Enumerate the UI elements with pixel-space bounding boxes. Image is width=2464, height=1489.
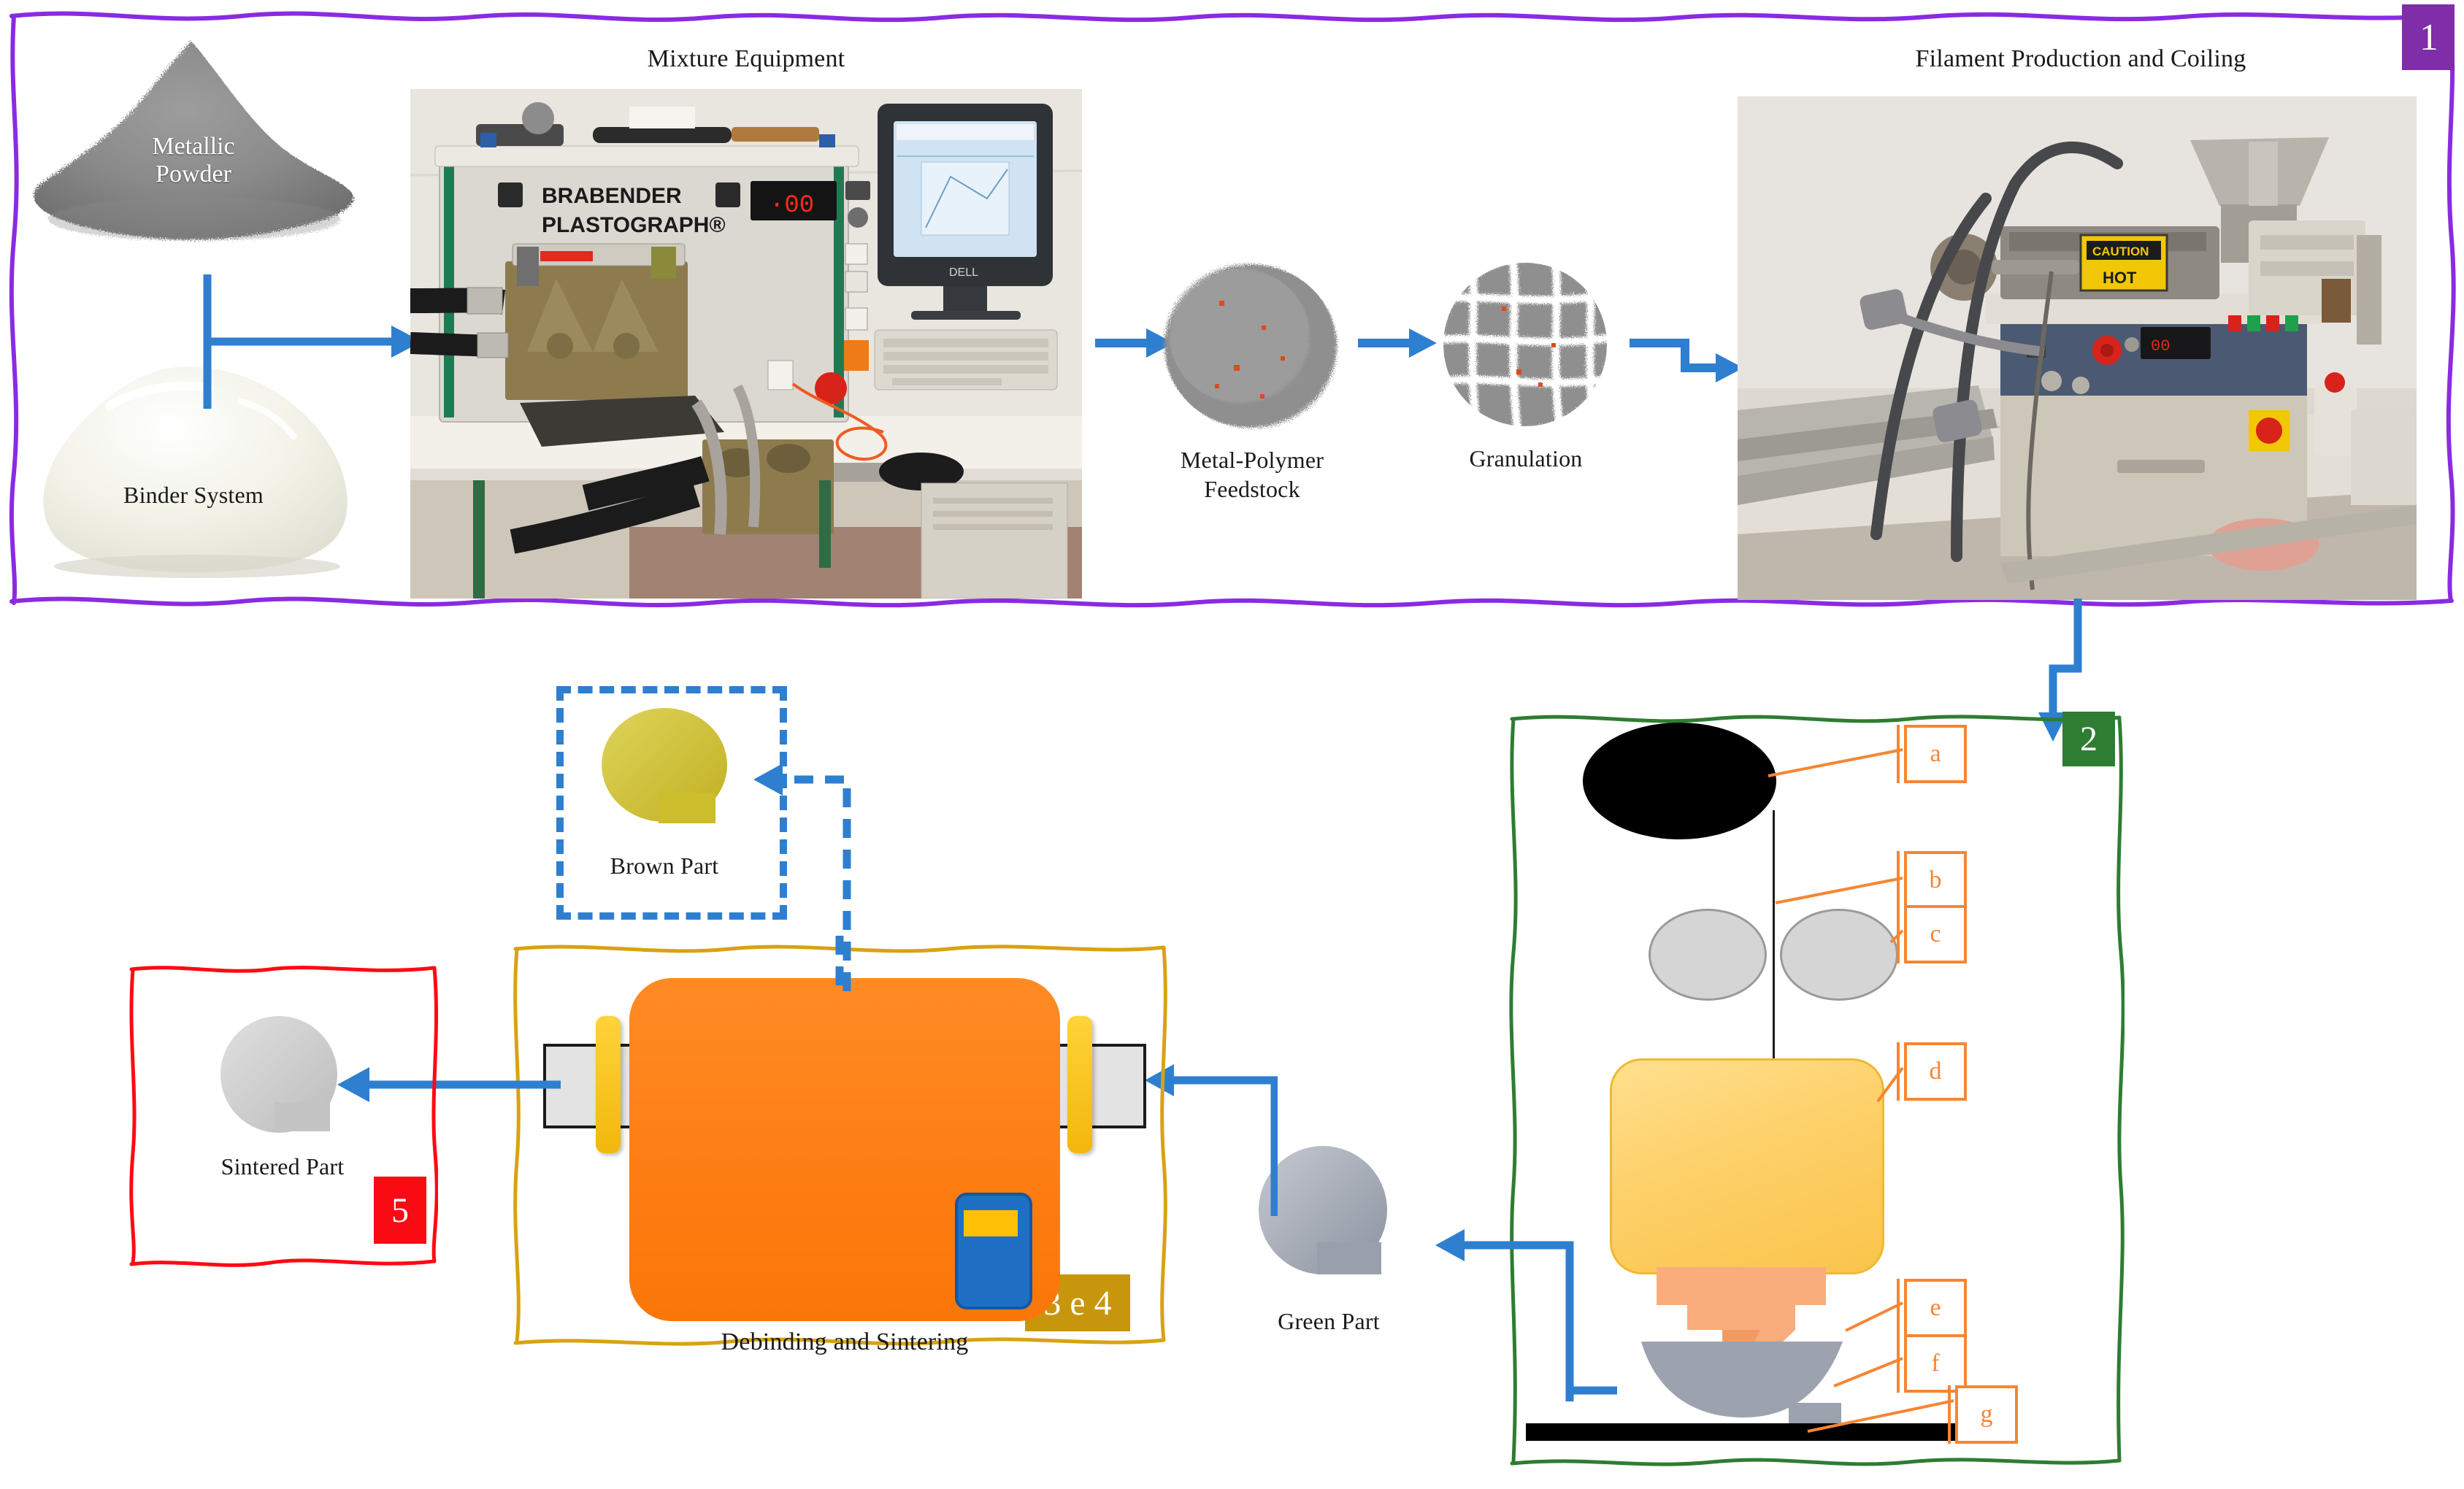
granulation-label: Granulation: [1409, 445, 1643, 472]
green-part-label: Green Part: [1219, 1308, 1438, 1335]
arrow-printer-to-green-part-lower: [1566, 1376, 1617, 1405]
svg-text:PLASTOGRAPH®: PLASTOGRAPH®: [542, 213, 726, 237]
dashed-line-furnace-top: [832, 936, 847, 987]
furnace-right-port: [1045, 1044, 1146, 1128]
furnace-right-door: [1067, 1016, 1092, 1153]
callout-box-e: e: [1904, 1279, 1967, 1337]
svg-text:BRABENDER: BRABENDER: [542, 184, 682, 208]
mixture-equipment-title: Mixture Equipment: [556, 45, 936, 73]
callout-box-g: g: [1955, 1385, 2018, 1444]
feedstock-label-line1: Metal-Polymer: [1124, 445, 1380, 474]
stage-1-badge: 1: [2402, 4, 2455, 70]
stage-5-badge-number: 5: [391, 1190, 409, 1231]
metallic-powder-label-line2: Powder: [22, 161, 365, 188]
stage-5-badge: 5: [374, 1177, 426, 1244]
granulation-illustration: [1435, 255, 1617, 438]
brown-part-label: Brown Part: [556, 853, 772, 880]
brown-part-illustration: [591, 707, 745, 845]
feedstock-label-line2: Feedstock: [1124, 474, 1380, 504]
svg-text:·00: ·00: [769, 192, 814, 220]
mixture-equipment-photo: BRABENDER PLASTOGRAPH® ·00: [410, 89, 1082, 599]
arrow-granulation-to-filament: [1628, 314, 1745, 394]
arrow-feedstock-to-granulation: [1358, 321, 1438, 365]
svg-text:HOT: HOT: [2103, 269, 2137, 287]
callout-box-c: c: [1904, 905, 1967, 963]
furnace-left-door: [596, 1016, 621, 1153]
furnace-panel-display: [964, 1210, 1018, 1236]
debinding-sintering-label: Debinding and Sintering: [629, 1328, 1060, 1356]
metallic-powder-label-line1: Metallic: [22, 133, 365, 161]
sintered-part-label: Sintered Part: [155, 1153, 410, 1180]
arrow-printer-to-green-part: [1394, 1073, 1577, 1401]
svg-text:00: 00: [2151, 337, 2170, 355]
binder-system-label: Binder System: [22, 482, 365, 509]
callout-box-d: d: [1904, 1042, 1967, 1101]
svg-text:DELL: DELL: [949, 266, 978, 279]
sintered-part-illustration: [212, 1015, 358, 1153]
callout-box-f: f: [1904, 1334, 1967, 1393]
filament-production-photo: CAUTION HOT 00: [1738, 96, 2417, 600]
metallic-powder-label: Metallic Powder: [22, 133, 365, 188]
metal-polymer-feedstock-label: Metal-Polymer Feedstock: [1124, 445, 1380, 504]
arrow-materials-to-mixer: [175, 269, 423, 415]
callout-box-b: b: [1904, 851, 1967, 909]
filament-production-title: Filament Production and Coiling: [1811, 45, 2351, 73]
svg-text:CAUTION: CAUTION: [2092, 245, 2149, 258]
stage-1-badge-number: 1: [2419, 16, 2438, 59]
callout-box-a: a: [1904, 725, 1967, 783]
metal-polymer-feedstock-illustration: [1152, 255, 1349, 438]
